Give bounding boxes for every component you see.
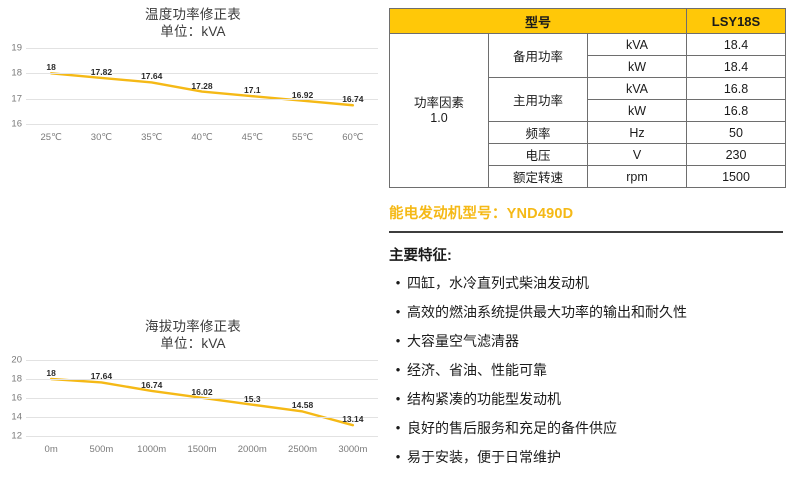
data-point-label: 13.14 <box>342 414 363 424</box>
gridline <box>26 73 378 74</box>
y-axis-tick-label: 18 <box>11 68 22 79</box>
feature-list-item: •结构紧凑的功能型发动机 <box>389 390 786 408</box>
table-body: 功率因素1.0备用功率kVA18.4kW18.4主用功率kVA16.8kW16.… <box>390 34 786 188</box>
engine-model-label: 能电发动机型号：YND490D <box>389 202 573 223</box>
feature-text: 经济、省油、性能可靠 <box>407 361 786 379</box>
bullet-icon: • <box>389 390 407 408</box>
spec-value-cell: 18.4 <box>687 56 786 78</box>
features-heading: 主要特征: <box>389 244 786 265</box>
charts-column: 温度功率修正表 单位：kVA 16171819 1817.8217.6417.2… <box>0 0 386 488</box>
gridline <box>26 99 378 100</box>
table-row: 功率因素1.0备用功率kVA18.4 <box>390 34 786 56</box>
y-axis-tick-label: 12 <box>11 431 22 442</box>
temperature-correction-chart: 温度功率修正表 单位：kVA 16171819 1817.8217.6417.2… <box>0 6 386 166</box>
gridline <box>26 398 378 399</box>
gridline <box>26 124 378 125</box>
data-point-label: 16.02 <box>191 387 212 397</box>
bullet-icon: • <box>389 303 407 321</box>
spec-value-cell: 1500 <box>687 166 786 188</box>
y-axis-tick-label: 20 <box>11 355 22 366</box>
feature-list-item: •高效的燃油系统提供最大功率的输出和耐久性 <box>389 303 786 321</box>
x-axis-tick-label: 1000m <box>137 444 166 455</box>
bullet-icon: • <box>389 448 407 466</box>
x-axis-tick-label: 30℃ <box>91 132 112 143</box>
feature-text: 易于安装，便于日常维护 <box>407 448 786 466</box>
specification-table: 型号 LSY18S 功率因素1.0备用功率kVA18.4kW18.4主用功率kV… <box>389 8 786 188</box>
chart-subtitle-text: 单位：kVA <box>0 335 386 352</box>
data-point-label: 17.1 <box>244 85 261 95</box>
x-axis-tick-label: 2000m <box>238 444 267 455</box>
spec-group-cell: 备用功率 <box>489 34 588 78</box>
x-axis-tick-label: 55℃ <box>292 132 313 143</box>
spec-group-cell: 主用功率 <box>489 78 588 122</box>
spec-unit-cell: kW <box>588 100 687 122</box>
data-point-label: 16.74 <box>141 380 162 390</box>
specs-column: 型号 LSY18S 功率因素1.0备用功率kVA18.4kW18.4主用功率kV… <box>386 0 790 488</box>
spec-group-cell: 额定转速 <box>489 166 588 188</box>
data-point-label: 17.28 <box>191 81 212 91</box>
spec-value-cell: 16.8 <box>687 100 786 122</box>
spec-unit-cell: kVA <box>588 34 687 56</box>
spec-value-cell: 50 <box>687 122 786 144</box>
x-axis-temperature: 25℃30℃35℃40℃45℃55℃60℃ <box>26 130 378 148</box>
x-axis-tick-label: 3000m <box>338 444 367 455</box>
data-point-label: 17.82 <box>91 67 112 77</box>
spec-unit-cell: V <box>588 144 687 166</box>
feature-text: 良好的售后服务和充足的备件供应 <box>407 419 786 437</box>
spec-group-cell: 电压 <box>489 144 588 166</box>
x-axis-tick-label: 35℃ <box>141 132 162 143</box>
y-axis-tick-label: 16 <box>11 393 22 404</box>
features-list: •四缸，水冷直列式柴油发动机•高效的燃油系统提供最大功率的输出和耐久性•大容量空… <box>389 274 786 466</box>
data-point-label: 17.64 <box>91 371 112 381</box>
x-axis-tick-label: 40℃ <box>191 132 212 143</box>
data-point-label: 16.92 <box>292 90 313 100</box>
table-header-row: 型号 LSY18S <box>390 9 786 34</box>
chart-title-altitude: 海拔功率修正表 单位：kVA <box>0 318 386 352</box>
spec-value-cell: 16.8 <box>687 78 786 100</box>
y-axis-temperature: 16171819 <box>0 48 26 124</box>
x-axis-tick-label: 45℃ <box>242 132 263 143</box>
plot-canvas-altitude: 1817.6416.7416.0215.314.5813.14 <box>26 360 378 436</box>
power-factor-cell: 功率因素1.0 <box>390 34 489 188</box>
y-axis-tick-label: 19 <box>11 43 22 54</box>
header-model-label: 型号 <box>390 9 687 34</box>
header-model-value: LSY18S <box>687 9 786 34</box>
data-point-label: 14.58 <box>292 400 313 410</box>
x-axis-tick-label: 0m <box>45 444 58 455</box>
plot-area-temperature: 16171819 1817.8217.6417.2817.116.9216.74… <box>0 48 386 154</box>
product-spec-sheet: 温度功率修正表 单位：kVA 16171819 1817.8217.6417.2… <box>0 0 790 488</box>
spec-unit-cell: rpm <box>588 166 687 188</box>
spec-unit-cell: kW <box>588 56 687 78</box>
feature-text: 高效的燃油系统提供最大功率的输出和耐久性 <box>407 303 786 321</box>
x-axis-tick-label: 2500m <box>288 444 317 455</box>
data-point-label: 17.64 <box>141 71 162 81</box>
spec-group-cell: 频率 <box>489 122 588 144</box>
data-point-label: 16.74 <box>342 94 363 104</box>
y-axis-tick-label: 18 <box>11 374 22 385</box>
spec-unit-cell: Hz <box>588 122 687 144</box>
data-point-label: 18 <box>46 62 55 72</box>
spec-unit-cell: kVA <box>588 78 687 100</box>
x-axis-tick-label: 25℃ <box>41 132 62 143</box>
table-head: 型号 LSY18S <box>390 9 786 34</box>
x-axis-tick-label: 1500m <box>187 444 216 455</box>
feature-list-item: •四缸，水冷直列式柴油发动机 <box>389 274 786 292</box>
gridline <box>26 436 378 437</box>
feature-list-item: •大容量空气滤清器 <box>389 332 786 350</box>
chart-title-text: 海拔功率修正表 <box>145 319 241 334</box>
chart-title-text: 温度功率修正表 <box>145 7 241 22</box>
chart-title-temperature: 温度功率修正表 单位：kVA <box>0 6 386 40</box>
altitude-correction-chart: 海拔功率修正表 单位：kVA 1214161820 1817.6416.7416… <box>0 318 386 478</box>
chart-subtitle-text: 单位：kVA <box>0 23 386 40</box>
x-axis-tick-label: 500m <box>90 444 114 455</box>
bullet-icon: • <box>389 361 407 379</box>
bullet-icon: • <box>389 274 407 292</box>
gridline <box>26 48 378 49</box>
engine-model-row: 能电发动机型号：YND490D <box>389 197 786 227</box>
y-axis-tick-label: 14 <box>11 412 22 423</box>
x-axis-altitude: 0m500m1000m1500m2000m2500m3000m <box>26 442 378 460</box>
bullet-icon: • <box>389 419 407 437</box>
y-axis-altitude: 1214161820 <box>0 360 26 436</box>
spec-value-cell: 18.4 <box>687 34 786 56</box>
data-point-label: 15.3 <box>244 394 261 404</box>
feature-list-item: •易于安装，便于日常维护 <box>389 448 786 466</box>
feature-list-item: •经济、省油、性能可靠 <box>389 361 786 379</box>
y-axis-tick-label: 16 <box>11 119 22 130</box>
divider-below-engine <box>389 231 783 233</box>
bullet-icon: • <box>389 332 407 350</box>
features-section: 主要特征: •四缸，水冷直列式柴油发动机•高效的燃油系统提供最大功率的输出和耐久… <box>389 244 786 477</box>
feature-list-item: •良好的售后服务和充足的备件供应 <box>389 419 786 437</box>
spec-value-cell: 230 <box>687 144 786 166</box>
y-axis-tick-label: 17 <box>11 93 22 104</box>
x-axis-tick-label: 60℃ <box>342 132 363 143</box>
plot-canvas-temperature: 1817.8217.6417.2817.116.9216.74 <box>26 48 378 124</box>
feature-text: 结构紧凑的功能型发动机 <box>407 390 786 408</box>
gridline <box>26 379 378 380</box>
gridline <box>26 417 378 418</box>
gridline <box>26 360 378 361</box>
plot-area-altitude: 1214161820 1817.6416.7416.0215.314.5813.… <box>0 360 386 466</box>
feature-text: 四缸，水冷直列式柴油发动机 <box>407 274 786 292</box>
data-point-label: 18 <box>46 368 55 378</box>
feature-text: 大容量空气滤清器 <box>407 332 786 350</box>
